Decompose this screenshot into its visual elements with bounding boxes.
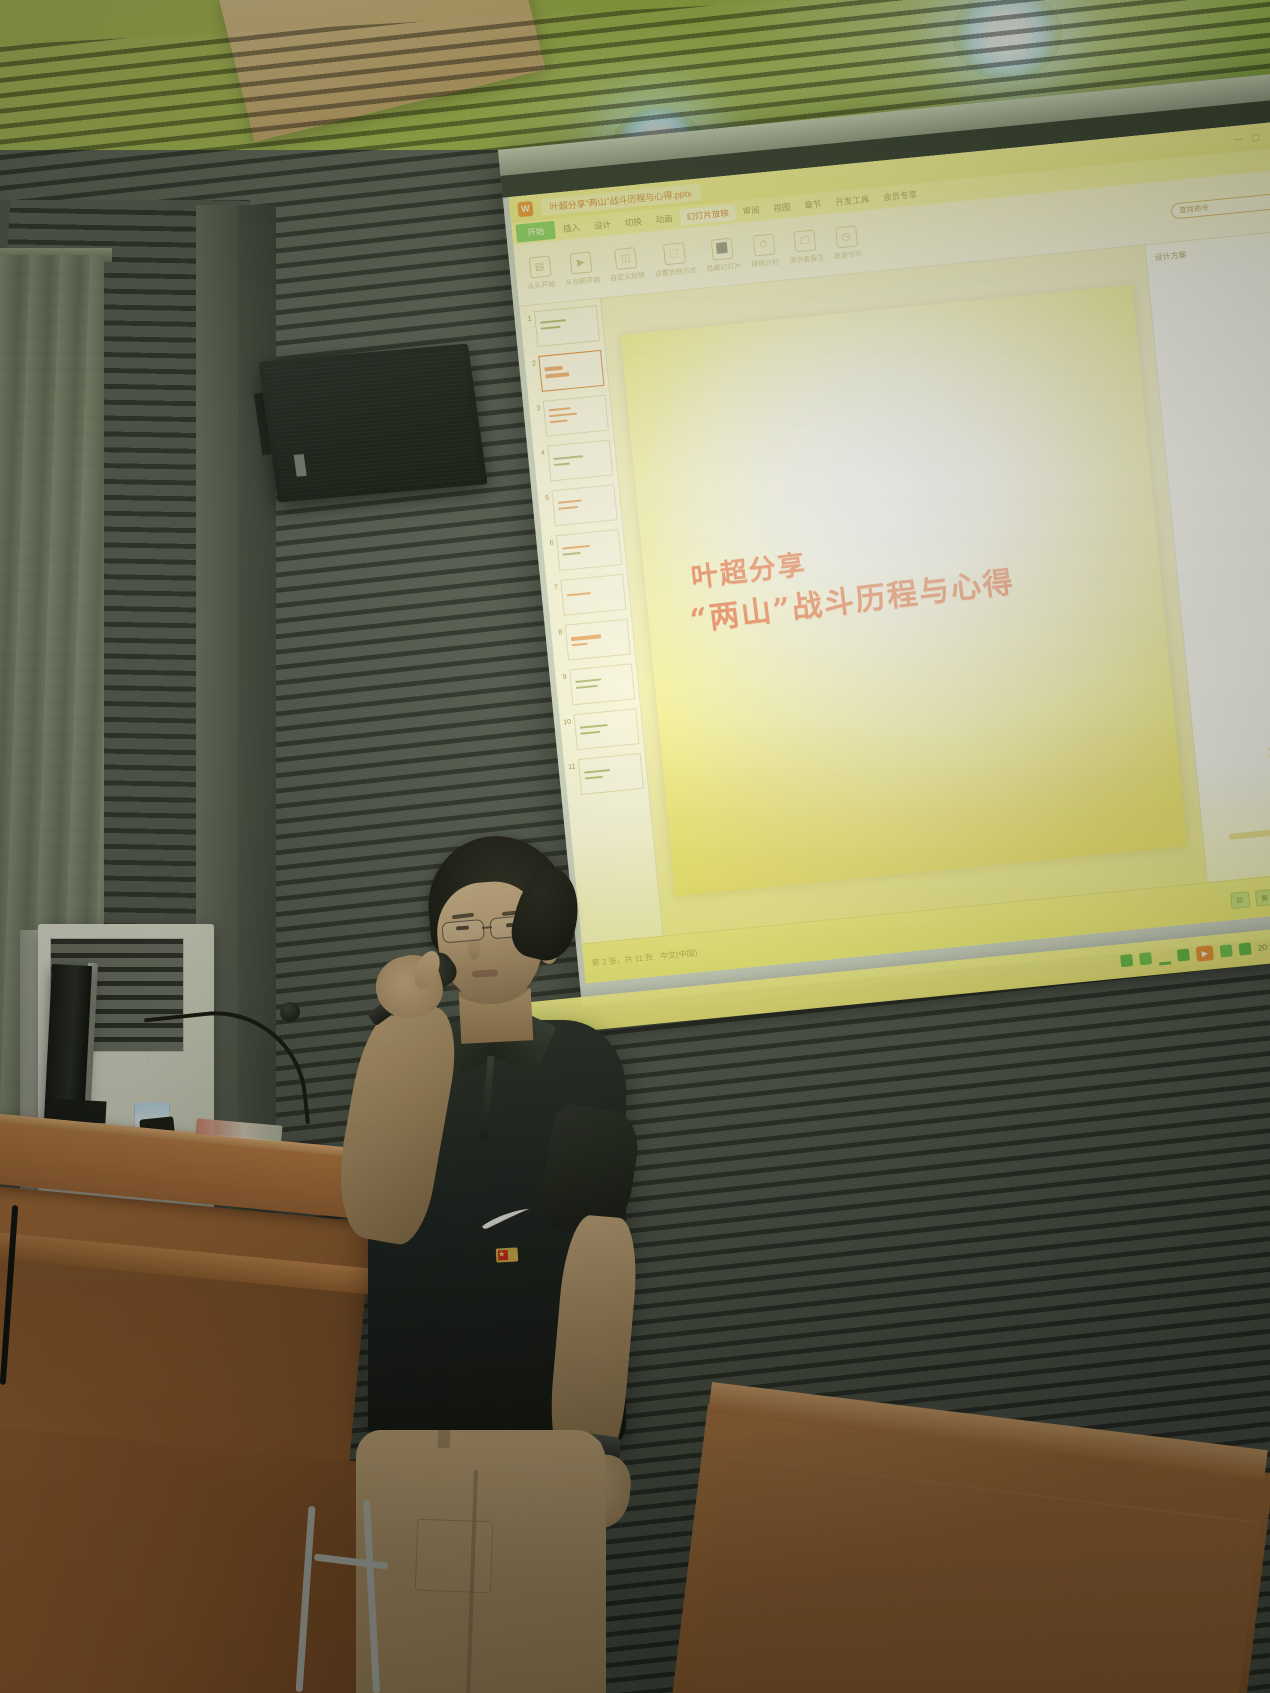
command-search-input[interactable]: 查找命令 xyxy=(1170,192,1270,219)
thumb-number: 10 xyxy=(561,715,571,727)
list-item[interactable]: 10 xyxy=(561,708,639,751)
tab-developer[interactable]: 开发工具 xyxy=(829,190,876,210)
tab-animation[interactable]: 动画 xyxy=(649,210,679,229)
list-item[interactable]: 9 xyxy=(557,663,635,706)
thumb-preview-selected xyxy=(538,350,604,392)
tab-slideshow[interactable]: 幻灯片放映 xyxy=(680,204,736,225)
chair-leg-left xyxy=(296,1506,316,1692)
design-preview-circle-icon xyxy=(1266,718,1270,786)
thumb-number: 8 xyxy=(553,625,563,637)
conference-room-scene: W 叶超分享“两山”战斗历程与心得.pptx — ▢ ✕ 开始 插入 设计 切换… xyxy=(0,0,1270,1693)
volume-icon[interactable] xyxy=(1139,952,1152,965)
thumb-preview xyxy=(534,305,600,347)
list-item[interactable]: 11 xyxy=(566,753,644,796)
ribbon-presenter-notes[interactable]: 🖵 演讲者备注 xyxy=(786,228,824,265)
design-preview-bar xyxy=(1228,823,1270,840)
cargo-pocket xyxy=(415,1519,493,1594)
hide-slide-icon: ⬛ xyxy=(711,237,734,260)
slide-sorter-view-icon[interactable]: ▦ xyxy=(1254,888,1270,906)
list-item[interactable]: 1 xyxy=(522,305,600,348)
thumb-number: 6 xyxy=(544,535,554,547)
rehearse-timing-label: 排练计时 xyxy=(751,257,780,270)
thumb-number: 7 xyxy=(548,580,558,592)
thumb-preview xyxy=(560,574,626,616)
list-item[interactable]: 2 xyxy=(526,350,604,393)
system-tray: ▶ 20:14 xyxy=(1120,938,1270,968)
current-slide[interactable]: 叶超分享 “两山”战斗历程与心得 xyxy=(621,285,1187,896)
hide-slide-label: 隐藏幻灯片 xyxy=(706,260,742,273)
tab-member[interactable]: 会员专享 xyxy=(876,186,923,206)
tab-start[interactable]: 开始 xyxy=(515,221,556,243)
setup-show-icon: ⬚ xyxy=(662,242,685,265)
presenter-mouth xyxy=(472,969,498,977)
thumb-preview xyxy=(573,708,639,750)
media-player-icon[interactable]: ▶ xyxy=(1196,945,1214,962)
trouser-belt-loop xyxy=(438,1430,451,1448)
language-indicator[interactable]: 中文(中国) xyxy=(660,947,698,962)
ribbon-ink[interactable]: ◷ 墨迹书写 xyxy=(831,225,862,262)
task-pane-heading: 设计方案 xyxy=(1154,239,1270,263)
presenter-notes-icon: 🖵 xyxy=(793,229,816,252)
tab-review[interactable]: 审阅 xyxy=(736,201,766,220)
thumb-preview xyxy=(565,619,631,661)
thumb-preview xyxy=(551,484,617,526)
ribbon-custom-show[interactable]: ◫ 自定义放映 xyxy=(607,246,645,283)
thumb-preview xyxy=(547,439,613,481)
folding-chair xyxy=(296,1500,406,1693)
network-icon[interactable] xyxy=(1120,954,1133,967)
gooseneck-capsule-icon xyxy=(280,1002,300,1022)
nike-swoosh-icon xyxy=(480,1209,533,1231)
thumb-preview xyxy=(556,529,622,571)
thumb-preview xyxy=(578,753,644,795)
tab-section[interactable]: 章节 xyxy=(798,195,828,214)
presenter-notes-label: 演讲者备注 xyxy=(789,252,825,265)
custom-show-label: 自定义放映 xyxy=(610,270,646,283)
tab-transition[interactable]: 切换 xyxy=(618,213,648,232)
thumb-number: 5 xyxy=(540,491,550,503)
thumb-preview xyxy=(569,663,635,705)
thumb-number: 11 xyxy=(566,759,576,771)
chair-leg-right xyxy=(363,1500,380,1693)
ink-writing-icon: ◷ xyxy=(835,225,858,248)
tab-view[interactable]: 视图 xyxy=(767,198,797,217)
ribbon-rehearse[interactable]: ⏱ 排练计时 xyxy=(749,233,780,270)
setup-show-label: 设置放映方式 xyxy=(654,265,697,279)
normal-view-icon[interactable]: ▤ xyxy=(1229,891,1249,909)
ribbon-from-beginning[interactable]: ▤ 从头开始 xyxy=(525,255,556,292)
from-current-label: 从当前开始 xyxy=(565,274,601,287)
from-beginning-icon: ▤ xyxy=(528,255,551,278)
notification-icon[interactable] xyxy=(1239,942,1252,955)
chair-crossbar xyxy=(314,1554,388,1570)
taskbar-clock[interactable]: 20:14 xyxy=(1258,941,1270,952)
custom-show-icon: ◫ xyxy=(614,247,637,270)
ribbon-from-current[interactable]: ▶ 从当前开始 xyxy=(562,250,600,287)
tab-insert[interactable]: 插入 xyxy=(556,219,586,238)
ribbon-setup-show[interactable]: ⬚ 设置放映方式 xyxy=(652,241,697,279)
thumb-number: 9 xyxy=(557,670,567,682)
window-controls: — ▢ ✕ xyxy=(1233,130,1270,145)
rehearse-timing-icon: ⏱ xyxy=(752,233,775,256)
ribbon-hide-slide[interactable]: ⬛ 隐藏幻灯片 xyxy=(704,236,742,273)
list-item[interactable]: 5 xyxy=(540,484,618,527)
status-bar-right: ▤ ▦ ▣ ▶ 100% xyxy=(1229,881,1270,909)
wall-speaker xyxy=(258,344,487,503)
input-method-icon[interactable] xyxy=(1177,949,1190,962)
list-item[interactable]: 6 xyxy=(544,529,622,572)
thumb-number: 2 xyxy=(526,356,536,368)
list-item[interactable]: 3 xyxy=(531,395,609,438)
thumb-preview xyxy=(543,395,609,437)
wooden-partition xyxy=(712,1382,1270,1693)
maximize-icon[interactable]: ▢ xyxy=(1251,131,1261,143)
wps-logo-icon[interactable]: W xyxy=(517,200,533,216)
from-current-icon: ▶ xyxy=(569,251,592,274)
thumb-number: 3 xyxy=(531,401,541,413)
minimize-icon[interactable]: — xyxy=(1233,133,1243,144)
tab-design[interactable]: 设计 xyxy=(587,216,617,235)
cloud-sync-icon[interactable] xyxy=(1220,944,1233,957)
from-beginning-label: 从头开始 xyxy=(527,279,556,292)
party-emblem-badge-icon xyxy=(496,1245,519,1265)
thumb-number: 4 xyxy=(535,446,545,458)
ink-writing-label: 墨迹书写 xyxy=(833,249,862,262)
slide-canvas[interactable]: 叶超分享 “两山”战斗历程与心得 xyxy=(601,245,1207,935)
list-item[interactable]: 8 xyxy=(553,619,631,662)
list-item[interactable]: 4 xyxy=(535,439,613,482)
wifi-icon[interactable] xyxy=(1158,949,1171,965)
thumb-number: 1 xyxy=(522,312,532,324)
list-item[interactable]: 7 xyxy=(548,574,626,617)
